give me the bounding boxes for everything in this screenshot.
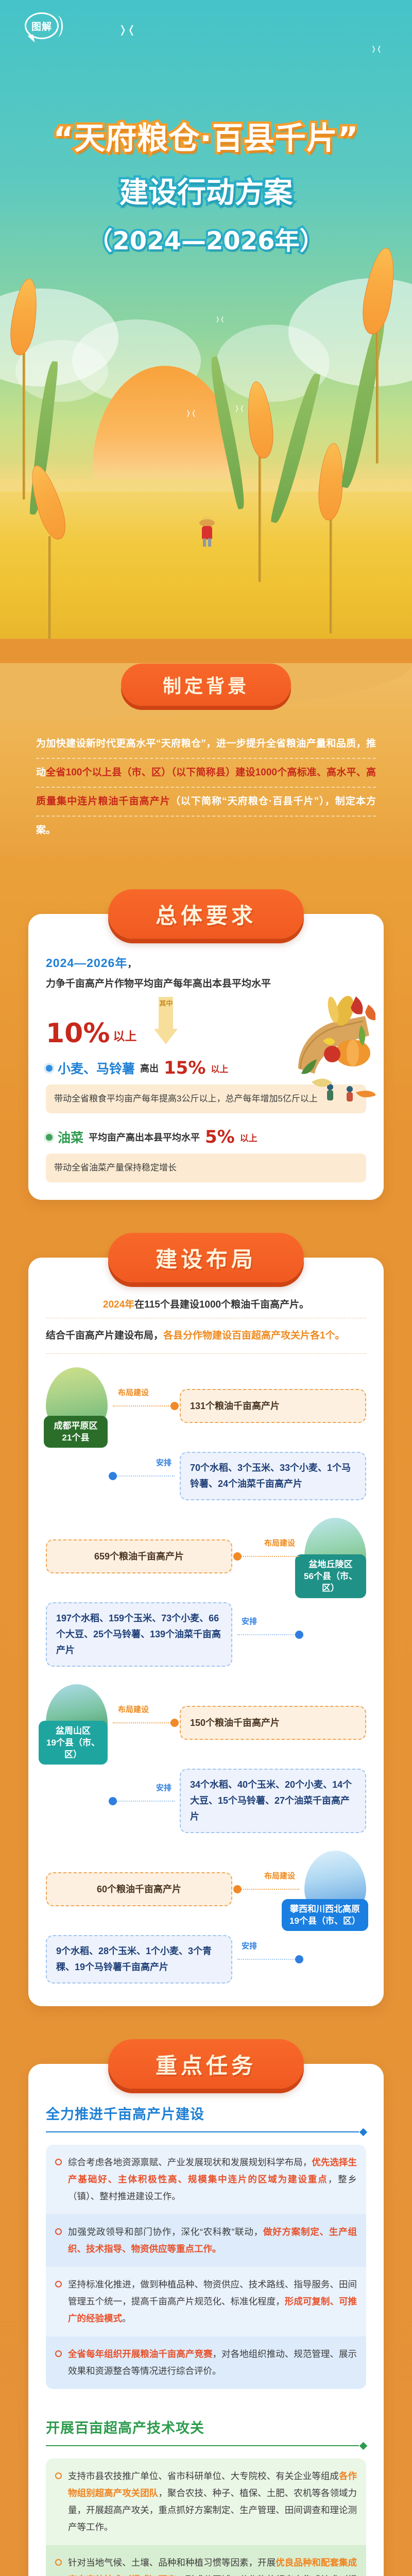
zone-chengdu-plain: 成都平原区 21个县 布局建设 131个粮油千亩高产片 [46, 1367, 366, 1445]
bird-icon: ❭❬ [371, 45, 382, 52]
zone-county-count: 19个县（市、区） [287, 1915, 363, 1927]
zone-tag: 盆周山区 19个县（市、区） [39, 1721, 108, 1765]
layout-lead-1-year: 2024年 [103, 1299, 134, 1310]
wheat-field-illustration [0, 479, 412, 639]
task-group: 全力推进千亩高产片建设综合考虑各地资源禀赋、产业发展现状和发展规划科学布局，优先… [46, 2103, 366, 2389]
zone-detail-box: 9个水稻、28个玉米、1个小麦、3个青稞、19个马铃薯千亩高产片 [46, 1935, 232, 1984]
zone-basin-hills-detail: 安排 197个水稻、159个玉米、73个小麦、66个大豆、25个马铃薯、139个… [46, 1602, 366, 1667]
zone-chengdu-plain-detail: 安排 70个水稻、3个玉米、33个小麦、1个马铃薯、24个油菜千亩高产片 [46, 1452, 366, 1500]
bird-icon: ❭❬ [215, 317, 225, 323]
bullet-ring-icon [55, 2281, 62, 2287]
task-item: 针对当地气候、土壤、品种和种植习惯等因素，开展优良品种和配套集成高产高效技术（模… [46, 2545, 366, 2576]
task-item: 支持市县农技推广单位、省市科研单位、大专院校、有关企业等组成各作物组别超高产攻关… [46, 2459, 366, 2545]
layout-lead-2: 结合千亩高产片建设布局，各县分作物建设百亩超高产攻关片各1个。 [46, 1326, 366, 1346]
connector-layout: 布局建设 [113, 1397, 175, 1415]
poster-title-group: “天府粮仓·百县千片” 建设行动方案 （2024—2026年） [0, 113, 412, 257]
section-pill-label: 总体要求 [156, 899, 256, 930]
overall-period-value: 2024—2026年 [46, 956, 127, 970]
crop-qualifier: 平均亩产高出本县平均水平 [89, 1130, 200, 1144]
task-group: 开展百亩超高产技术攻关支持市县农技推广单位、省市科研单位、大专院校、有关企业等组… [46, 2417, 366, 2576]
zone-peripheral-mountain: 盆周山区 19个县（市、区） 布局建设 150个粮油千亩高产片 [46, 1684, 366, 1761]
bullet-ring-icon [55, 2350, 62, 2357]
overall-item-rapeseed: 油菜 平均亩产高出本县平均水平 5% 以上 带动全省油菜产量保持稳定增长 [46, 1127, 366, 1182]
connector-label: 安排 [156, 1457, 171, 1468]
task-text-plain: 支持市县农技推广单位、省市科研单位、大专院校、有关企业等组成 [68, 2471, 339, 2481]
overall-headline-number: 10% [46, 1021, 110, 1046]
zone-name: 盆周山区 [44, 1725, 102, 1737]
zone-count-box: 150个粮油千亩高产片 [180, 1706, 366, 1740]
harvest-illustration [267, 991, 375, 1105]
task-text-plain: 。 [122, 2313, 131, 2324]
zone-detail-box: 34个水稻、40个玉米、20个小麦、14个大豆、15个马铃薯、27个油菜千亩高产… [180, 1769, 366, 1833]
crop-note: 带动全省油菜产量保持稳定增长 [46, 1154, 366, 1182]
layout-card: 2024年在115个县建设1000个粮油千亩高产片。 结合千亩高产片建设布局，各… [28, 1258, 384, 2006]
overall-period: 2024—2026年， [46, 953, 366, 971]
crop-name: 小麦、马铃薯 [58, 1059, 135, 1077]
layout-lead-2-pre: 结合千亩高产片建设布局， [46, 1330, 163, 1341]
bullet-dot [46, 1134, 53, 1141]
crop-target-number: 5% [205, 1127, 235, 1147]
section-pill-label: 制定背景 [163, 671, 249, 698]
connector-label: 安排 [242, 1940, 257, 1951]
zone-tag: 盆地丘陵区 56个县（市、区） [295, 1554, 366, 1598]
zone-panxi-detail: 安排 9个水稻、28个玉米、1个小麦、3个青稞、19个马铃薯千亩高产片 [46, 1935, 366, 1984]
section-overall: 总体要求 [0, 856, 412, 1200]
task-item-block: 综合考虑各地资源禀赋、产业发展现状和发展规划科学布局，优先选择生产基础好、主体积… [46, 2145, 366, 2389]
section-background: 制定背景 为加快建设新时代更高水平“天府粮仓”，进一步提升全省粮油产量和品质，推… [0, 664, 412, 856]
heading-rule [46, 2443, 366, 2448]
overall-period-comma: ， [127, 959, 137, 969]
dashed-rule-group [36, 730, 376, 845]
bullet-dot [46, 1065, 53, 1072]
zone-county-count: 19个县（市、区） [44, 1737, 102, 1760]
connector-layout: 布局建设 [113, 1714, 175, 1732]
section-layout: 建设布局 2024年在115个县建设1000个粮油千亩高产片。 结合千亩高产片建… [0, 1200, 412, 2006]
page-period: （2024—2026年） [88, 221, 324, 257]
task-text-plain: 加强党政领导和部门协作，深化“农科教”联动， [68, 2227, 263, 2237]
section-pill-tasks: 重点任务 [108, 2039, 304, 2089]
layout-lead-1: 2024年在115个县建设1000个粮油千亩高产片。 [46, 1297, 366, 1311]
zone-count-box: 659个粮油千亩高产片 [46, 1539, 232, 1573]
task-item-text: 针对当地气候、土壤、品种和种植习惯等因素，开展优良品种和配套集成高产高效技术（模… [68, 2554, 357, 2576]
task-item: 综合考虑各地资源禀赋、产业发展现状和发展规划科学布局，优先选择生产基础好、主体积… [46, 2145, 366, 2214]
task-item: 坚持标准化推进，做到种植品种、物资供应、技术路线、指导服务、田间管理五个统一，提… [46, 2267, 366, 2336]
zone-thumbnail: 盆周山区 19个县（市、区） [46, 1684, 108, 1761]
connector-layout: 布局建设 [237, 1880, 299, 1898]
connector-arrange: 安排 [237, 1626, 299, 1643]
section-pill-overall: 总体要求 [108, 889, 304, 939]
task-item-text: 全省每年组织开展粮油千亩高产竞赛，对各地组织推动、规范管理、展示效果和资源整合等… [68, 2346, 357, 2380]
heading-rule [46, 2129, 366, 2134]
section-pill-layout: 建设布局 [108, 1233, 304, 1282]
dashed-divider [46, 1318, 366, 1318]
section-tasks: 重点任务 全力推进千亩高产片建设综合考虑各地资源禀赋、产业发展现状和发展规划科学… [0, 2006, 412, 2576]
zone-name: 攀西和川西北高原 [287, 1903, 363, 1915]
task-group-heading: 开展百亩超高产技术攻关 [46, 2417, 366, 2437]
connector-label: 布局建设 [118, 1704, 149, 1715]
section-pill-background: 制定背景 [121, 664, 291, 706]
crop-qualifier: 高出 [140, 1061, 159, 1075]
task-item: 加强党政领导和部门协作，深化“农科教”联动，做好方案制定、生产组织、技术指导、物… [46, 2214, 366, 2267]
tasks-card: 全力推进千亩高产片建设综合考虑各地资源禀赋、产业发展现状和发展规划科学布局，优先… [28, 2064, 384, 2576]
zone-tag: 成都平原区 21个县 [44, 1416, 108, 1448]
task-text-highlight: 全省每年组织开展粮油千亩高产竞赛 [68, 2349, 213, 2359]
zone-basin-hills: 盆地丘陵区 56个县（市、区） 布局建设 659个粮油千亩高产片 [46, 1518, 366, 1595]
connector-arrange: 安排 [113, 1792, 175, 1810]
task-item-text: 支持市县农技推广单位、省市科研单位、大专院校、有关企业等组成各作物组别超高产攻关… [68, 2468, 357, 2536]
task-text-plain: 综合考虑各地资源禀赋、产业发展现状和发展规划科学布局， [68, 2157, 312, 2167]
zone-thumbnail: 盆地丘陵区 56个县（市、区） [304, 1518, 366, 1595]
layout-lead-2-hl: 各县分作物建设百亩超高产攻关片各1个。 [163, 1330, 345, 1341]
zone-county-count: 21个县 [49, 1432, 102, 1444]
hero-banner: ❭❬ ❭❬ ❭❬ ❭❬ ❭❬ 图解 “天府粮仓·百县千片” 建设行动方案 （20… [0, 0, 412, 639]
zone-count-box: 60个粮油千亩高产片 [46, 1872, 232, 1906]
task-group-heading: 全力推进千亩高产片建设 [46, 2103, 366, 2123]
zone-detail-box: 197个水稻、159个玉米、73个小麦、66个大豆、25个马铃薯、139个油菜千… [46, 1602, 232, 1667]
connector-label: 布局建设 [118, 1387, 149, 1398]
overall-headline-suffix: 以上 [113, 1026, 136, 1046]
zone-name: 盆地丘陵区 [300, 1558, 361, 1570]
down-arrow-icon: 其中 [154, 997, 178, 1046]
task-group-list: 全力推进千亩高产片建设综合考虑各地资源禀赋、产业发展现状和发展规划科学布局，优先… [46, 2103, 366, 2576]
page-title: “天府粮仓·百县千片” [54, 113, 359, 158]
zone-panxi-northwest-plateau: 攀西和川西北高原 19个县（市、区） 布局建设 60个粮油千亩高产片 [46, 1851, 366, 1928]
connector-label: 布局建设 [264, 1870, 295, 1881]
zone-count-box: 131个粮油千亩高产片 [180, 1389, 366, 1423]
connector-arrange: 安排 [237, 1951, 299, 1968]
zone-name: 成都平原区 [49, 1420, 102, 1432]
zone-county-count: 56个县（市、区） [300, 1570, 361, 1594]
crop-name: 油菜 [58, 1128, 83, 1146]
arrow-label: 其中 [154, 999, 178, 1008]
connector-label: 安排 [242, 1616, 257, 1626]
crop-target-number: 15% [164, 1058, 205, 1078]
crop-target-suffix: 以上 [211, 1062, 228, 1075]
page-subtitle: 建设行动方案 [119, 170, 293, 211]
task-item: 全省每年组织开展粮油千亩高产竞赛，对各地组织推动、规范管理、展示效果和资源整合等… [46, 2336, 366, 2389]
dashed-divider [46, 1353, 366, 1354]
crop-target-suffix: 以上 [240, 1131, 257, 1144]
poster-body: 制定背景 为加快建设新时代更高水平“天府粮仓”，进一步提升全省粮油产量和品质，推… [0, 664, 412, 2576]
task-item-text: 坚持标准化推进，做到种植品种、物资供应、技术路线、指导服务、田间管理五个统一，提… [68, 2276, 357, 2327]
connector-layout: 布局建设 [237, 1548, 299, 1565]
bird-icon: ❭❬ [118, 25, 136, 35]
background-paragraph: 为加快建设新时代更高水平“天府粮仓”，进一步提升全省粮油产量和品质，推动全省10… [36, 730, 376, 845]
bullet-ring-icon [55, 2159, 62, 2165]
zone-thumbnail: 成都平原区 21个县 [46, 1367, 108, 1445]
bullet-ring-icon [55, 2228, 62, 2235]
zone-tag: 攀西和川西北高原 19个县（市、区） [282, 1899, 368, 1931]
bird-icon: ❭❬ [185, 410, 197, 416]
task-item-block: 支持市县农技推广单位、省市科研单位、大专院校、有关企业等组成各作物组别超高产攻关… [46, 2459, 366, 2576]
overall-card: 2024—2026年， 力争千亩高产片作物平均亩产每年高出本县平均水平 10% … [28, 914, 384, 1200]
zone-detail-box: 70个水稻、3个玉米、33个小麦、1个马铃薯、24个油菜千亩高产片 [180, 1452, 366, 1500]
section-pill-label: 重点任务 [156, 2048, 256, 2080]
bird-icon: ❭❬ [234, 405, 245, 411]
bullet-ring-icon [55, 2472, 62, 2479]
layout-lead-1-text: 在115个县建设1000个粮油千亩高产片。 [134, 1299, 309, 1310]
tujie-logo-badge: 图解 [25, 12, 62, 44]
zone-peripheral-mountain-detail: 安排 34个水稻、40个玉米、20个小麦、14个大豆、15个马铃薯、27个油菜千… [46, 1769, 366, 1833]
cloud-decoration [15, 340, 108, 402]
overall-lead: 力争千亩高产片作物平均亩产每年高出本县平均水平 [46, 976, 366, 990]
bullet-ring-icon [55, 2559, 62, 2566]
section-pill-label: 建设布局 [156, 1242, 256, 1274]
connector-label: 布局建设 [264, 1537, 295, 1548]
task-item-text: 加强党政领导和部门协作，深化“农科教”联动，做好方案制定、生产组织、技术指导、物… [68, 2224, 357, 2258]
task-item-text: 综合考虑各地资源禀赋、产业发展现状和发展规划科学布局，优先选择生产基础好、主体积… [68, 2154, 357, 2205]
connector-label: 安排 [156, 1782, 171, 1793]
logo-label: 图解 [25, 12, 59, 39]
farmer-illustration [198, 519, 216, 552]
connector-arrange: 安排 [113, 1467, 175, 1485]
zone-thumbnail: 攀西和川西北高原 19个县（市、区） [304, 1851, 366, 1928]
task-text-plain: 针对当地气候、土壤、品种和种植习惯等因素，开展 [68, 2557, 276, 2568]
